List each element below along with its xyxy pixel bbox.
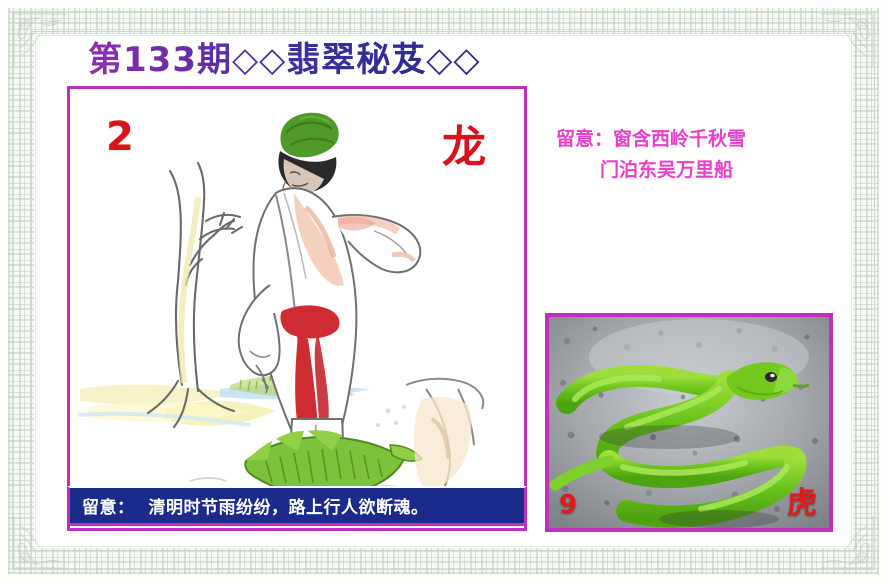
main-illustration-panel[interactable]: 2 龙: [67, 86, 527, 531]
side-note-label: 留意：: [556, 128, 613, 150]
photo-panel-number: 9: [559, 490, 577, 520]
side-note: 留意：窗含西岭千秋雪 门泊东吴万里船: [556, 124, 836, 186]
side-note-line2: 门泊东吴万里船: [556, 155, 836, 186]
photo-panel-zodiac: 虎: [787, 478, 817, 522]
corner-flourish-top-right-icon: [817, 10, 877, 70]
bottom-note-text: 清明时节雨纷纷，路上行人欲断魂。: [149, 493, 429, 518]
snake-photo-panel[interactable]: 9 虎: [545, 313, 833, 532]
corner-flourish-top-left-icon: [10, 10, 70, 70]
main-panel-zodiac: 龙: [442, 111, 486, 175]
poster-page: 第133期◇◇翡翠秘芨◇◇: [0, 0, 887, 582]
bottom-note-label: 留意：: [82, 493, 135, 518]
page-title: 第133期◇◇翡翠秘芨◇◇: [88, 32, 481, 81]
side-note-line1: 窗含西岭千秋雪: [613, 128, 746, 150]
corner-flourish-bottom-left-icon: [10, 512, 70, 572]
bottom-note-banner: 留意： 清明时节雨纷纷，路上行人欲断魂。: [67, 486, 527, 526]
main-panel-number: 2: [106, 114, 134, 160]
